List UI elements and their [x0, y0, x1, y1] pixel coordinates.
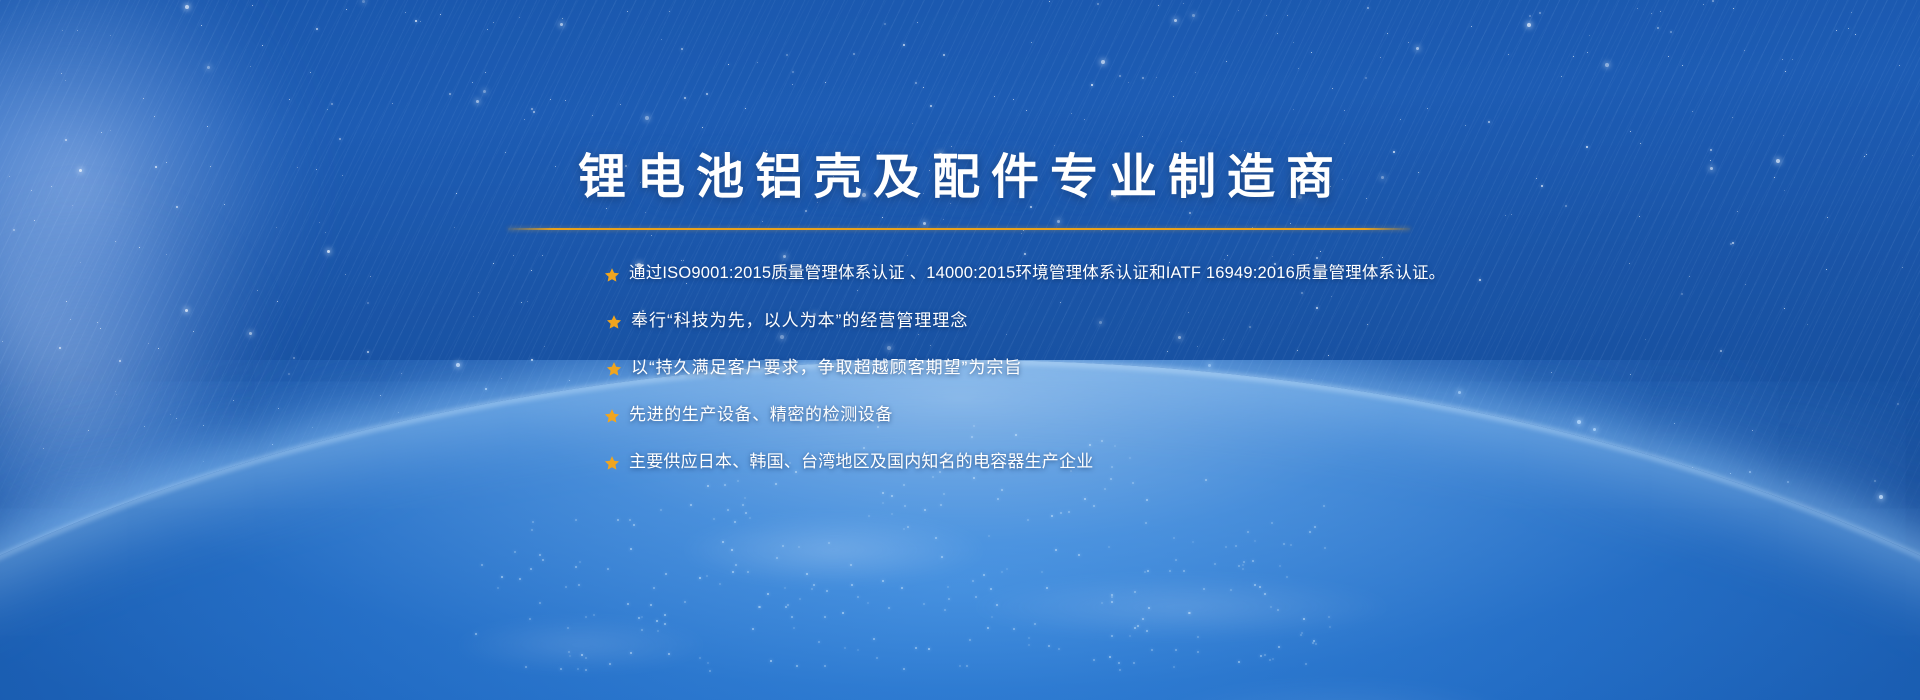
- list-item-label: 以“持久满足客户要求，争取超越顾客期望”为宗旨: [631, 344, 1022, 391]
- list-item-label: 主要供应日本、韩国、台湾地区及国内知名的电容器生产企业: [629, 438, 1093, 485]
- list-item-label: 先进的生产设备、精密的检测设备: [629, 391, 893, 438]
- star-icon: [604, 408, 620, 424]
- list-item-label: 通过ISO9001:2015质量管理体系认证 、14000:2015环境管理体系…: [629, 250, 1445, 297]
- title-divider: [508, 228, 1410, 230]
- list-item: 主要供应日本、韩国、台湾地区及国内知名的电容器生产企业: [604, 438, 1664, 485]
- list-item-label: 奉行“科技为先，以人为本”的经营管理理念: [631, 297, 968, 344]
- star-icon: [604, 267, 620, 283]
- list-item: 以“持久满足客户要求，争取超越顾客期望”为宗旨: [604, 344, 1664, 391]
- star-icon: [606, 314, 622, 330]
- page-title: 锂电池铝壳及配件专业制造商: [578, 152, 1345, 204]
- list-item: 通过ISO9001:2015质量管理体系认证 、14000:2015环境管理体系…: [604, 250, 1664, 297]
- banner-content: 锂电池铝壳及配件专业制造商 通过ISO9001:2015质量管理体系认证 、14…: [0, 0, 1920, 700]
- star-icon: [604, 455, 620, 471]
- star-icon: [606, 361, 622, 377]
- list-item: 奉行“科技为先，以人为本”的经营管理理念: [604, 297, 1664, 344]
- feature-list: 通过ISO9001:2015质量管理体系认证 、14000:2015环境管理体系…: [604, 250, 1664, 485]
- hero-banner: 锂电池铝壳及配件专业制造商 通过ISO9001:2015质量管理体系认证 、14…: [0, 0, 1920, 700]
- list-item: 先进的生产设备、精密的检测设备: [604, 391, 1664, 438]
